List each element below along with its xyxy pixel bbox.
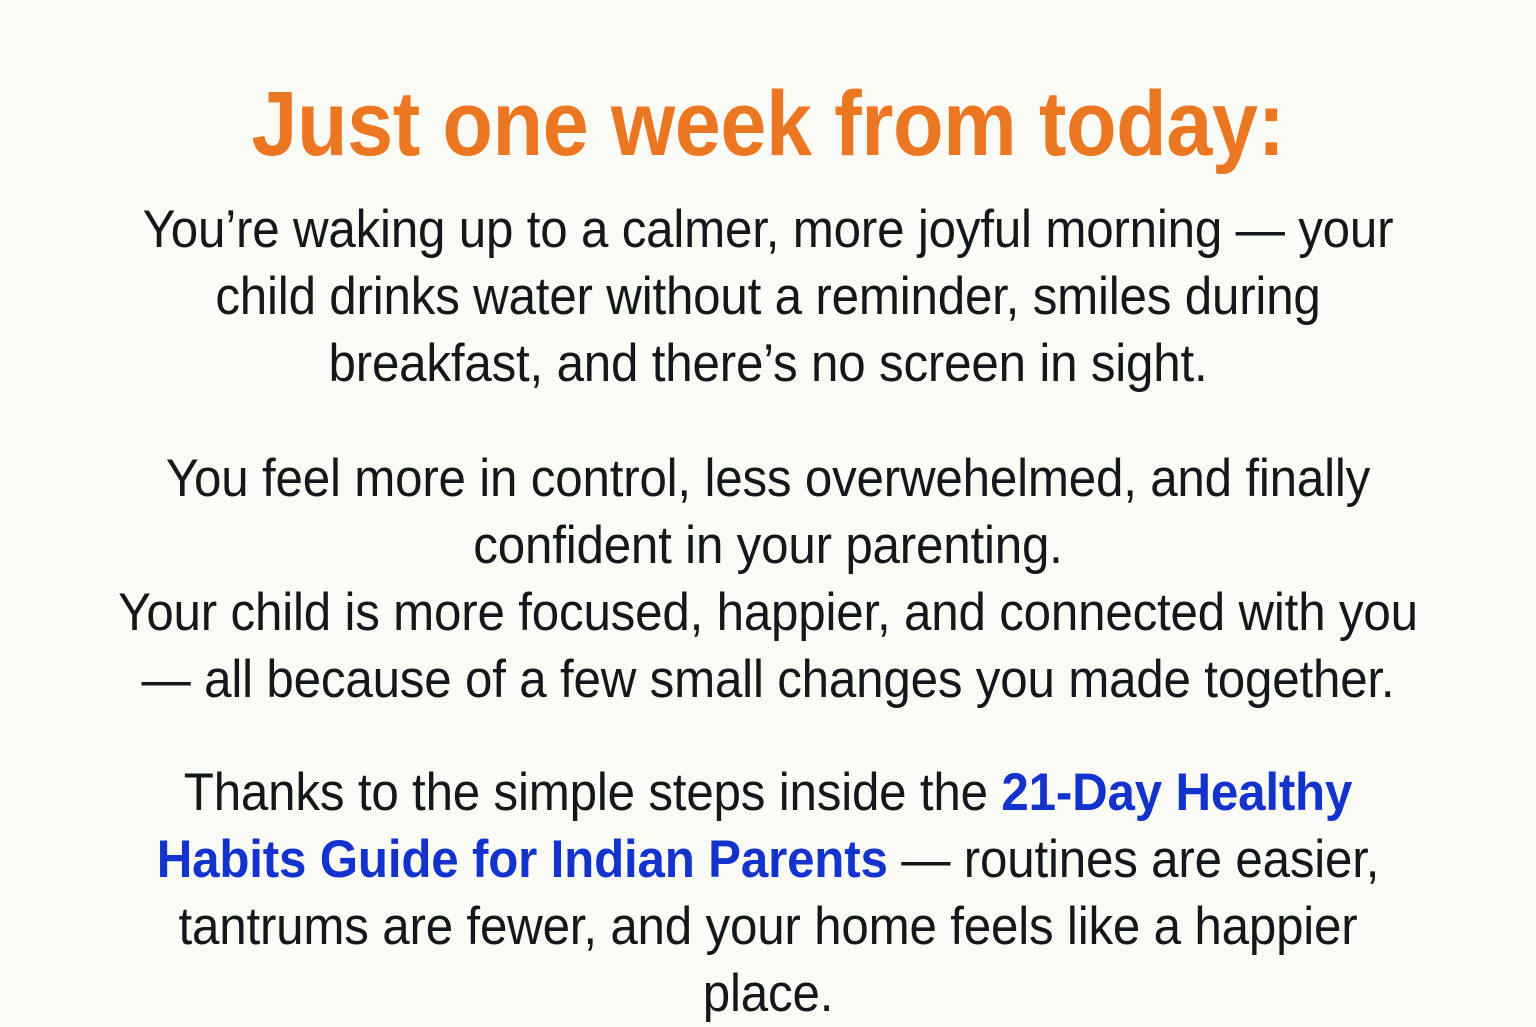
paragraph-feelings-line-2: Your child is more focused, happier, and… bbox=[118, 583, 1418, 709]
body-copy: You’re waking up to a calmer, more joyfu… bbox=[60, 196, 1476, 1027]
promo-slide: Just one week from today: You’re waking … bbox=[0, 0, 1536, 1024]
guide-callout-lead: Thanks to the simple steps inside the bbox=[184, 763, 1002, 822]
paragraph-feelings-line-1: You feel more in control, less overwehel… bbox=[166, 449, 1370, 575]
paragraph-morning-scene: You’re waking up to a calmer, more joyfu… bbox=[110, 196, 1427, 397]
page-title: Just one week from today: bbox=[77, 76, 1459, 173]
paragraph-feelings: You feel more in control, less overwehel… bbox=[110, 445, 1427, 713]
paragraph-guide-callout: Thanks to the simple steps inside the 21… bbox=[110, 759, 1427, 1027]
